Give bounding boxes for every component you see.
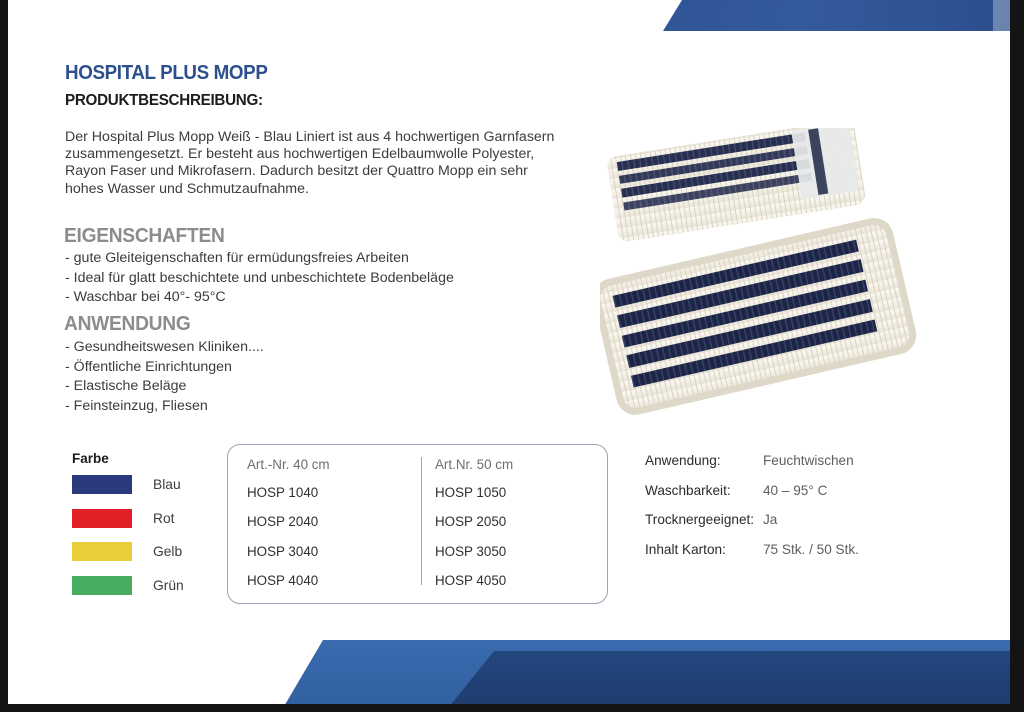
spec-label: Waschbarkeit: xyxy=(645,483,763,498)
spec-value: 75 Stk. / 50 Stk. xyxy=(763,542,859,557)
list-item: Anwendung: Feuchtwischen xyxy=(645,453,859,483)
color-legend: Farbe Blau Rot Gelb Grün xyxy=(72,451,184,600)
color-label: Grün xyxy=(153,578,184,593)
list-item: Inhalt Karton: 75 Stk. / 50 Stk. xyxy=(645,542,859,572)
list-item: - Elastische Beläge xyxy=(65,377,264,397)
color-label: Gelb xyxy=(153,544,182,559)
table-row: HOSP 4040 xyxy=(247,566,422,595)
spec-value: Ja xyxy=(763,512,777,527)
color-label: Blau xyxy=(153,477,181,492)
list-item: - Öffentliche Einrichtungen xyxy=(65,358,264,378)
product-description-text: Der Hospital Plus Mopp Weiß - Blau Linie… xyxy=(65,129,565,198)
table-row: HOSP 1050 xyxy=(435,478,610,507)
spec-label: Trocknergeeignet: xyxy=(645,512,763,527)
table-column-50cm: Art.Nr. 50 cm HOSP 1050 HOSP 2050 HOSP 3… xyxy=(435,445,610,596)
list-item: Trocknergeeignet: Ja xyxy=(645,512,859,542)
column-header: Art.-Nr. 40 cm xyxy=(247,445,422,478)
table-row: HOSP 1040 xyxy=(247,478,422,507)
properties-list: - gute Gleiteigenschaften für ermüdungsf… xyxy=(65,249,454,308)
color-swatch-gelb xyxy=(72,542,132,561)
color-label: Rot xyxy=(153,511,174,526)
color-swatch-blau xyxy=(72,475,132,494)
list-item: - Feinsteinzug, Fliesen xyxy=(65,397,264,417)
table-row: HOSP 3040 xyxy=(247,537,422,566)
table-row: HOSP 4050 xyxy=(435,566,610,595)
list-item: - Ideal für glatt beschichtete und unbes… xyxy=(65,269,454,289)
color-legend-title: Farbe xyxy=(72,451,184,466)
application-list: - Gesundheitswesen Kliniken.... - Öffent… xyxy=(65,338,264,416)
table-column-40cm: Art.-Nr. 40 cm HOSP 1040 HOSP 2040 HOSP … xyxy=(247,445,422,596)
table-row: HOSP 3050 xyxy=(435,537,610,566)
color-swatch-rot xyxy=(72,509,132,528)
product-description-heading: PRODUKTBESCHREIBUNG: xyxy=(65,92,263,110)
column-header: Art.Nr. 50 cm xyxy=(435,445,610,478)
spec-value: Feuchtwischen xyxy=(763,453,854,468)
spec-label: Anwendung: xyxy=(645,453,763,468)
table-row: HOSP 2050 xyxy=(435,507,610,536)
article-number-table: Art.-Nr. 40 cm HOSP 1040 HOSP 2040 HOSP … xyxy=(227,444,608,604)
list-item: Rot xyxy=(72,504,184,534)
list-item: - gute Gleiteigenschaften für ermüdungsf… xyxy=(65,249,454,269)
properties-heading: EIGENSCHAFTEN xyxy=(64,225,225,248)
spec-label: Inhalt Karton: xyxy=(645,542,763,557)
list-item: Gelb xyxy=(72,537,184,567)
spec-value: 40 – 95° C xyxy=(763,483,827,498)
list-item: - Gesundheitswesen Kliniken.... xyxy=(65,338,264,358)
list-item: Blau xyxy=(72,470,184,500)
list-item: Grün xyxy=(72,571,184,601)
application-heading: ANWENDUNG xyxy=(64,313,190,336)
list-item: Waschbarkeit: 40 – 95° C xyxy=(645,483,859,513)
specification-list: Anwendung: Feuchtwischen Waschbarkeit: 4… xyxy=(645,453,859,571)
bottom-blue-band-dark-decoration xyxy=(448,651,1010,708)
product-photo xyxy=(600,128,936,440)
color-swatch-gruen xyxy=(72,576,132,595)
table-row: HOSP 2040 xyxy=(247,507,422,536)
top-blue-band-decoration xyxy=(663,0,1010,31)
product-datasheet-page: HOSPITAL PLUS MOPP PRODUKTBESCHREIBUNG: … xyxy=(8,0,1010,708)
list-item: - Waschbar bei 40°- 95°C xyxy=(65,288,454,308)
top-blue-band-highlight xyxy=(993,0,1010,31)
page-title: HOSPITAL PLUS MOPP xyxy=(65,62,267,85)
